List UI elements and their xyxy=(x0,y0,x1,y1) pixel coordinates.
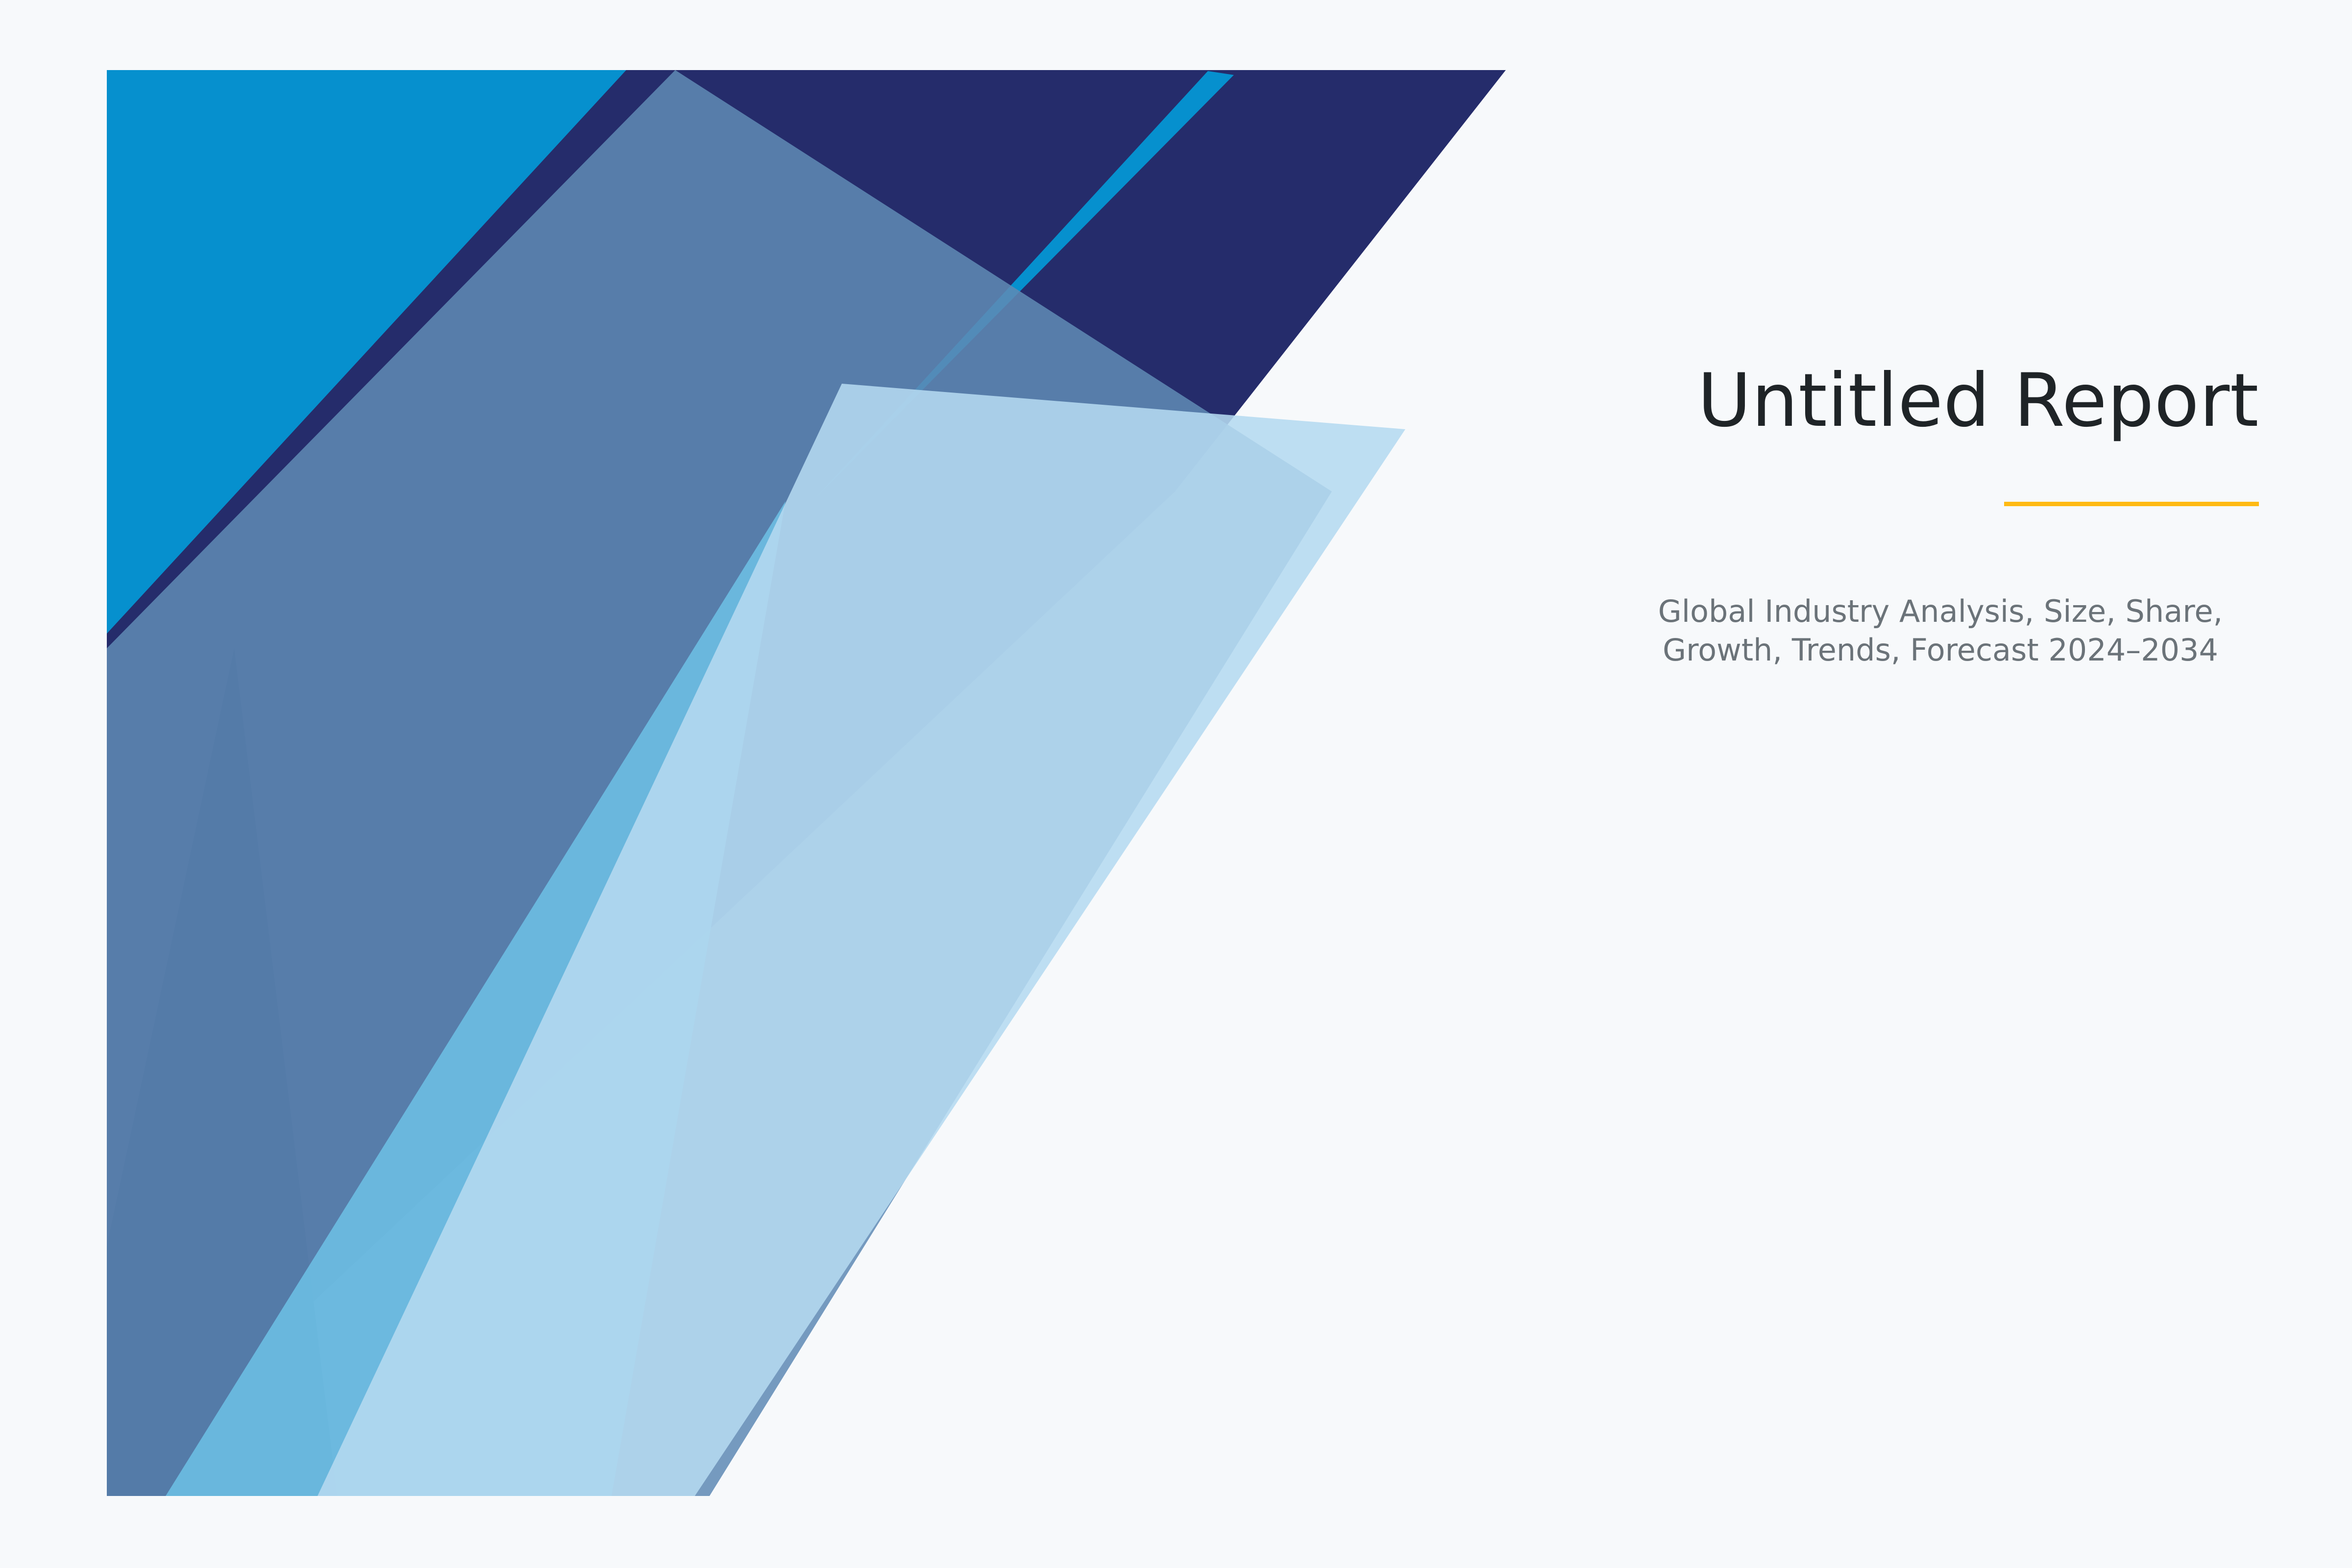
page-subtitle-line-1: Global Industry Analysis, Size, Share, xyxy=(1622,592,2259,631)
abstract-geometric-cover-graphic xyxy=(107,70,1626,1496)
cover-text-block: Untitled Report Global Industry Analysis… xyxy=(1592,363,2259,669)
page-subtitle: Global Industry Analysis, Size, Share, G… xyxy=(1592,592,2259,670)
page-subtitle-line-2: Growth, Trends, Forecast 2024–2034 xyxy=(1622,631,2259,669)
artwork-svg xyxy=(107,70,1626,1496)
report-cover-page: Untitled Report Global Industry Analysis… xyxy=(0,0,2352,1568)
accent-rule-container xyxy=(1592,502,2259,506)
page-title: Untitled Report xyxy=(1592,363,2259,440)
accent-rule xyxy=(2004,502,2259,506)
